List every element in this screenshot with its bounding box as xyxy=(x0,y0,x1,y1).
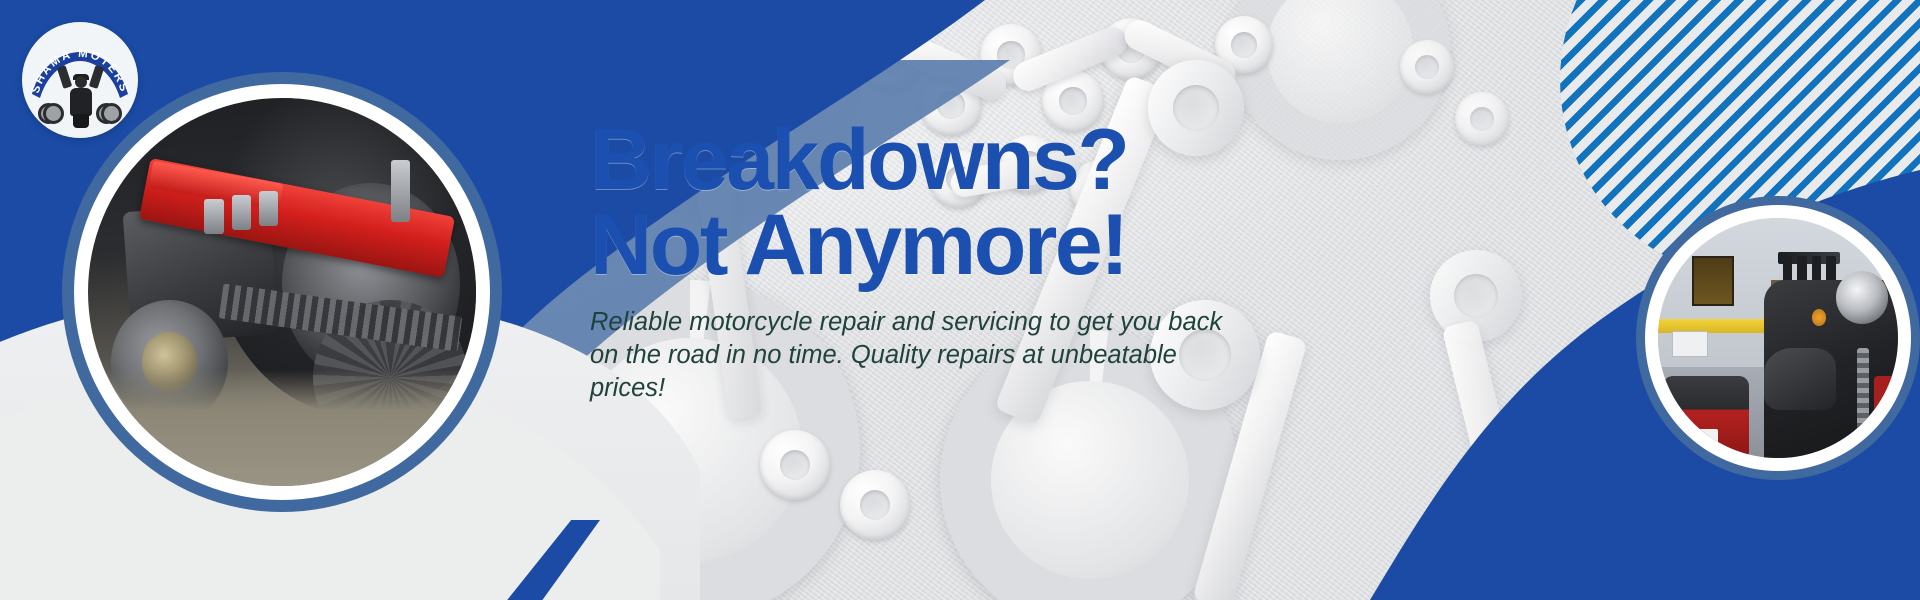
workshop-motorcycle-photo xyxy=(1636,196,1920,480)
logo-motorcycle-right-icon xyxy=(96,98,122,124)
hero-copy-block: Breakdowns? Not Anymore! Reliable motorc… xyxy=(590,118,1290,404)
promotional-banner: SHAMA MOTERS Breakdowns? Not Anymore! Re… xyxy=(0,0,1920,600)
hero-subcopy: Reliable motorcycle repair and servicing… xyxy=(590,306,1250,404)
logo-mechanic-icon xyxy=(66,76,96,128)
motorcycle-rear-wheel-photo xyxy=(62,72,502,512)
photo-left-image xyxy=(88,98,476,486)
hero-headline: Breakdowns? Not Anymore! xyxy=(590,118,1290,288)
logo-motorcycle-left-icon xyxy=(38,98,64,124)
photo-right-image xyxy=(1658,218,1898,458)
brand-logo-badge[interactable]: SHAMA MOTERS xyxy=(22,22,138,138)
